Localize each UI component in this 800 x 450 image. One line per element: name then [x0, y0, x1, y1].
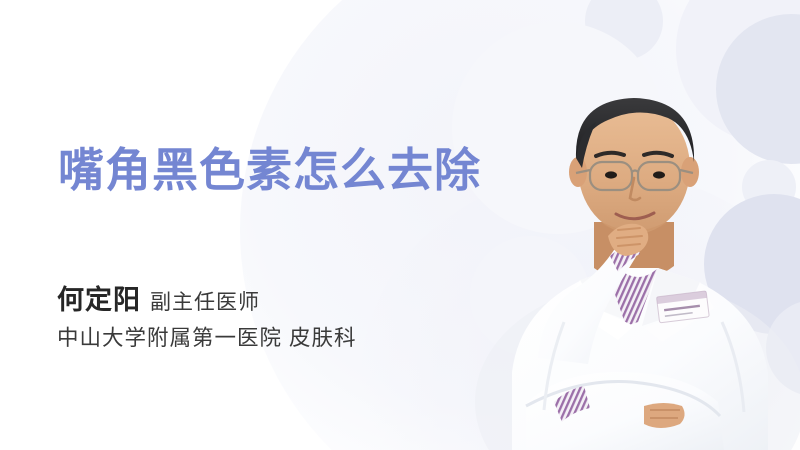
- doctor-identity: 何定阳副主任医师: [57, 284, 260, 316]
- page-title: 嘴角黑色素怎么去除: [58, 145, 481, 197]
- doctor-title: 副主任医师: [150, 291, 260, 314]
- promo-card: 嘴角黑色素怎么去除 何定阳副主任医师 中山大学附属第一医院 皮肤科: [0, 0, 800, 450]
- doctor-name: 何定阳: [57, 285, 141, 315]
- doctor-affiliation: 中山大学附属第一医院 皮肤科: [57, 325, 356, 353]
- doctor-portrait: [468, 72, 800, 450]
